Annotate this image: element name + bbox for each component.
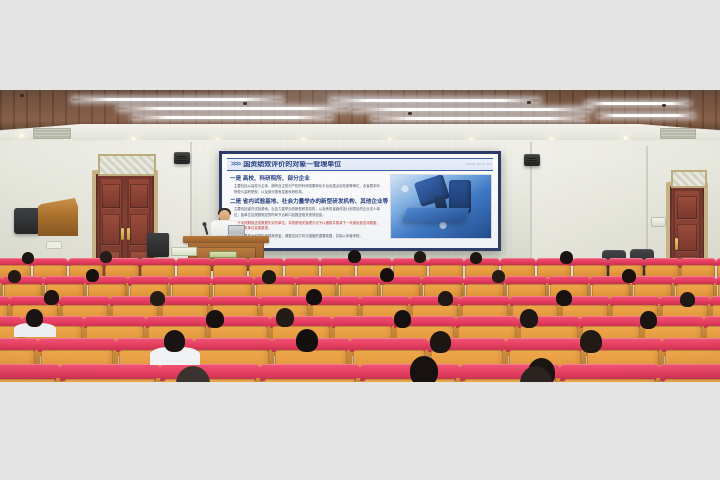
ceiling-light-strip — [372, 117, 587, 120]
attendee-head — [438, 291, 453, 306]
right-wall-speaker — [524, 154, 540, 166]
left-wall-speaker — [174, 152, 190, 164]
attendee-head — [100, 251, 112, 263]
ceiling-mount — [20, 94, 24, 97]
door-panel — [102, 214, 119, 245]
door-transom-window — [671, 170, 707, 188]
conference-hall-photograph: >>> 国资绩效评价的对象—管理单位 www.jzcu.cn 一是 高校、科研院… — [0, 90, 720, 382]
seat-back — [364, 379, 456, 382]
door-panel — [102, 184, 119, 209]
door-transom-window — [98, 154, 156, 176]
attendee-head — [492, 270, 505, 283]
auditorium-seat[interactable] — [160, 364, 260, 382]
ceiling-light-strip — [330, 99, 540, 102]
microscope-image — [390, 174, 492, 239]
door-handle[interactable] — [675, 238, 678, 250]
slide-header-bar: >>> 国资绩效评价的对象—管理单位 — [227, 158, 493, 171]
ceiling-mount — [243, 102, 247, 105]
auditorium-seat[interactable] — [60, 364, 160, 382]
air-vent-grille — [33, 128, 71, 139]
air-vent-grille — [660, 128, 696, 139]
auditorium-seat[interactable] — [0, 364, 60, 382]
recessed-downlight — [18, 134, 25, 138]
attendee-head — [580, 330, 602, 353]
attendee-head — [520, 309, 538, 328]
slide-heading-2: 二是 省内试验基地、社会力量举办的新型研发机构、其他企业等 — [230, 198, 382, 206]
letterbox-top — [0, 0, 720, 90]
attendee-head — [622, 269, 636, 283]
attendee-head — [394, 310, 411, 328]
letterbox-bottom — [0, 382, 720, 480]
attendee-head — [296, 329, 318, 352]
ceiling-light-strip — [352, 108, 592, 111]
storage-box — [171, 247, 197, 256]
door-panel — [130, 184, 147, 209]
attendee-head — [414, 251, 426, 263]
light-switch-panel[interactable] — [652, 218, 665, 226]
attendee-head — [8, 270, 21, 283]
attendee-head — [430, 331, 451, 353]
attendee-head — [26, 309, 43, 327]
slide-url: www.jzcu.cn — [466, 161, 492, 166]
seat-row — [0, 364, 720, 382]
attendee-head — [560, 251, 573, 264]
attendee-head — [640, 311, 657, 329]
ceiling-mount — [662, 104, 666, 107]
attendee-head — [86, 269, 99, 282]
chevron-right-icon: >>> — [231, 161, 240, 168]
attendee-head — [410, 356, 438, 382]
auditorium-seat[interactable] — [560, 364, 660, 382]
seat-back — [64, 379, 156, 382]
auditorium-seat[interactable] — [660, 364, 720, 382]
ceiling-light-strip — [586, 102, 690, 105]
door-panel — [130, 214, 147, 245]
slide-paragraph-1: 主要包括以高校为主体、拥有自主知识产权的科研成果转化平台及重点实验室等单位，含省… — [234, 184, 382, 195]
seat-back — [0, 379, 56, 382]
attendee-head — [276, 308, 294, 327]
attendee-head — [44, 290, 59, 305]
ceiling-light-strip — [132, 116, 332, 119]
attendee-head — [262, 270, 276, 284]
door-handle[interactable] — [121, 228, 124, 240]
ceiling-light-strip — [598, 114, 694, 117]
screenshot-canvas: >>> 国资绩效评价的对象—管理单位 www.jzcu.cn 一是 高校、科研院… — [0, 0, 720, 480]
attendee-head — [164, 330, 185, 352]
attendee-head — [22, 252, 34, 264]
wall-outlet — [47, 242, 61, 248]
auditorium-seat[interactable] — [260, 364, 360, 382]
seat-back — [264, 379, 356, 382]
slide-heading-1: 一是 高校、科研院所、部分企业 — [230, 175, 382, 183]
attendee-head — [470, 252, 482, 264]
slide-paragraph-2: 主要包括省内试验基地、社会力量举办的新型研发机构，以及承担省级科技计划项目的企业… — [234, 207, 382, 218]
seat-back — [564, 379, 656, 382]
equipment-case — [147, 233, 169, 257]
left-wall-armchair[interactable] — [14, 208, 40, 234]
door-panel — [677, 224, 697, 250]
ceiling-mount — [527, 101, 531, 104]
ceiling-mount — [408, 112, 412, 115]
ceiling-light-strip — [72, 98, 282, 101]
podium-plaque — [209, 251, 237, 258]
door-panel — [677, 196, 697, 220]
microscope-stage — [402, 208, 470, 222]
attendee-head — [306, 289, 322, 305]
ceiling-light-strip — [118, 107, 348, 110]
seat-back — [664, 379, 720, 382]
attendee-head — [206, 310, 224, 328]
slide-title: 国资绩效评价的对象—管理单位 — [243, 161, 341, 168]
door-handle[interactable] — [127, 228, 130, 240]
attendee-head — [380, 268, 394, 282]
attendee-head — [556, 290, 572, 306]
attendee-head — [348, 250, 361, 263]
attendee-head — [150, 291, 165, 306]
left-wooden-lectern — [38, 198, 78, 236]
attendee-head — [680, 292, 695, 307]
